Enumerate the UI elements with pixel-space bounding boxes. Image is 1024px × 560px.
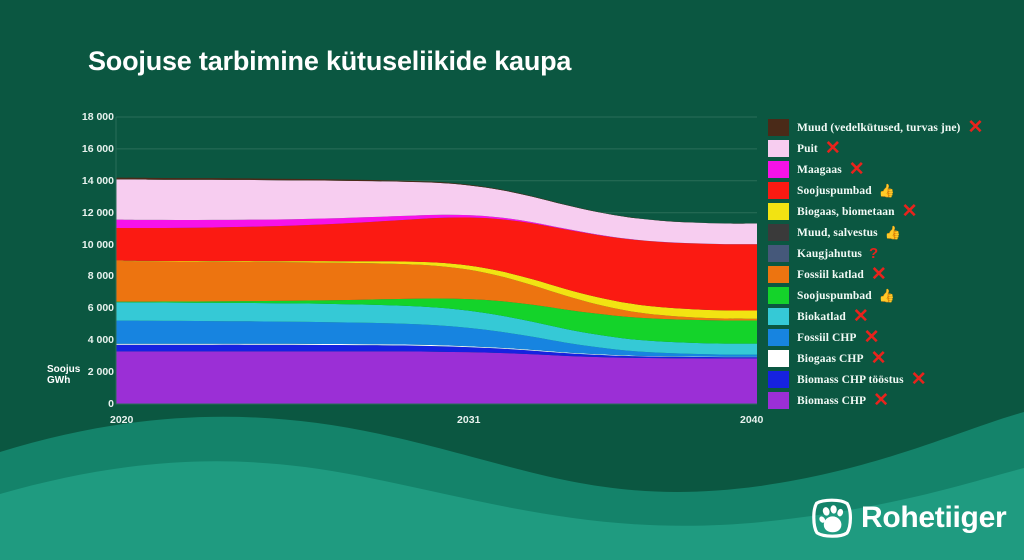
brand-name: Rohetiiger (861, 501, 1006, 535)
legend-item-label: Muud, salvestus (797, 227, 878, 239)
legend-item-label: Fossiil katlad (797, 269, 864, 281)
legend-item[interactable]: Kaugjahutus? (768, 243, 1024, 264)
legend-color-swatch (768, 119, 789, 136)
legend-color-swatch (768, 308, 789, 325)
legend-item-label: Biomass CHP tööstus (797, 374, 904, 386)
legend-color-swatch (768, 161, 789, 178)
legend-item-label: Fossiil CHP (797, 332, 857, 344)
x-axis-tick-label: 2020 (110, 414, 133, 426)
legend-item[interactable]: Biogaas, biometaan✕ (768, 201, 1024, 222)
area-series-group (116, 178, 757, 404)
legend-color-swatch (768, 350, 789, 367)
y-axis-tick-label: 12 000 (46, 207, 114, 219)
legend-item[interactable]: Biomass CHP tööstus✕ (768, 369, 1024, 390)
y-axis-tick-label: 8 000 (46, 270, 114, 282)
brand-logo: Rohetiiger (812, 498, 1006, 538)
y-axis-ticks: 02 0004 0006 0008 00010 00012 00014 0001… (46, 0, 114, 460)
status-cross-icon: ✕ (871, 265, 887, 284)
status-cross-icon: ✕ (911, 370, 927, 389)
status-cross-icon: ✕ (849, 160, 865, 179)
status-cross-icon: ✕ (873, 391, 889, 410)
y-axis-tick-label: 18 000 (46, 111, 114, 123)
legend-color-swatch (768, 203, 789, 220)
y-axis-tick-label: 16 000 (46, 143, 114, 155)
legend-color-swatch (768, 266, 789, 283)
legend-item-label: Biomass CHP (797, 395, 866, 407)
status-cross-icon: ✕ (902, 202, 918, 221)
area-series (116, 351, 757, 404)
status-cross-icon: ✕ (871, 349, 887, 368)
status-thumbs-up-icon: 👍 (885, 226, 901, 239)
legend-color-swatch (768, 224, 789, 241)
y-axis-tick-label: 14 000 (46, 175, 114, 187)
legend-item-label: Kaugjahutus (797, 248, 862, 260)
y-axis-title-line1: Soojus (47, 364, 69, 375)
legend-color-swatch (768, 182, 789, 199)
status-question-icon: ? (869, 246, 878, 261)
y-axis-title: Soojus GWh (47, 364, 69, 386)
legend: Muud (vedelkütused, turvas jne)✕Puit✕Maa… (768, 117, 1024, 411)
legend-color-swatch (768, 371, 789, 388)
legend-color-swatch (768, 245, 789, 262)
legend-item[interactable]: Muud, salvestus👍 (768, 222, 1024, 243)
status-cross-icon: ✕ (825, 139, 841, 158)
x-axis-tick-label: 2031 (457, 414, 480, 426)
legend-item[interactable]: Muud (vedelkütused, turvas jne)✕ (768, 117, 1024, 138)
legend-color-swatch (768, 392, 789, 409)
legend-item[interactable]: Fossiil katlad✕ (768, 264, 1024, 285)
y-axis-tick-label: 10 000 (46, 239, 114, 251)
y-axis-title-line2: GWh (47, 375, 69, 386)
legend-item[interactable]: Biogaas CHP✕ (768, 348, 1024, 369)
legend-item[interactable]: Biomass CHP✕ (768, 390, 1024, 411)
y-axis-tick-label: 0 (46, 398, 114, 410)
status-cross-icon: ✕ (853, 307, 869, 326)
legend-item-label: Muud (vedelkütused, turvas jne) (797, 122, 960, 134)
legend-item-label: Puit (797, 143, 818, 155)
legend-item[interactable]: Maagaas✕ (768, 159, 1024, 180)
legend-item-label: Biogaas, biometaan (797, 206, 895, 218)
legend-item-label: Biogaas CHP (797, 353, 864, 365)
legend-color-swatch (768, 329, 789, 346)
legend-item[interactable]: Soojuspumbad👍 (768, 285, 1024, 306)
legend-color-swatch (768, 287, 789, 304)
legend-color-swatch (768, 140, 789, 157)
legend-item-label: Soojuspumbad (797, 185, 872, 197)
legend-item-label: Soojuspumbad (797, 290, 872, 302)
y-axis-tick-label: 4 000 (46, 334, 114, 346)
y-axis-tick-label: 6 000 (46, 302, 114, 314)
infographic-canvas: Soojuse tarbimine kütuseliikide kaupa 02… (0, 0, 1024, 560)
status-cross-icon: ✕ (864, 328, 880, 347)
legend-item-label: Maagaas (797, 164, 842, 176)
legend-item[interactable]: Biokatlad✕ (768, 306, 1024, 327)
legend-item[interactable]: Soojuspumbad👍 (768, 180, 1024, 201)
legend-item-label: Biokatlad (797, 311, 846, 323)
status-thumbs-up-icon: 👍 (879, 184, 895, 197)
paw-print-icon (812, 498, 852, 538)
legend-item[interactable]: Fossiil CHP✕ (768, 327, 1024, 348)
status-cross-icon: ✕ (967, 118, 983, 137)
status-thumbs-up-icon: 👍 (879, 289, 895, 302)
legend-item[interactable]: Puit✕ (768, 138, 1024, 159)
x-axis-tick-label: 2040 (740, 414, 763, 426)
